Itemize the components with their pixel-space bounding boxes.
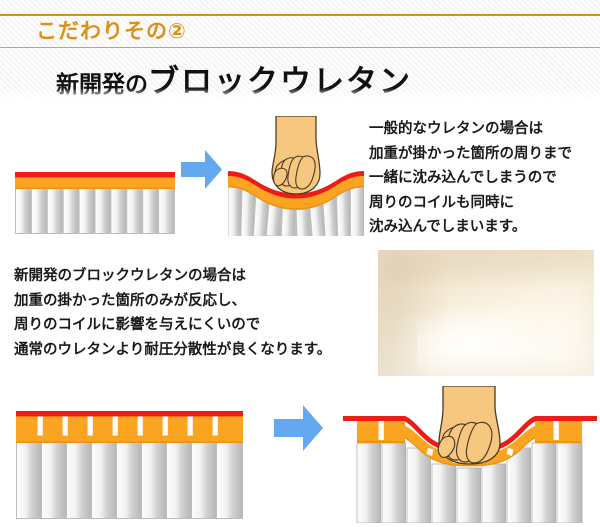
header-rule-bottom: [0, 47, 600, 48]
header-fade-overlay: [0, 88, 600, 102]
text-line: 加重が掛かった箇所の周りまで: [369, 142, 572, 167]
text-line: 新開発のブロックウレタンの場合は: [14, 264, 331, 289]
diagram-general-urethane-flat: [15, 172, 175, 234]
diagram-general-urethane-pressed: [228, 116, 364, 236]
text-line: 通常のウレタンより耐圧分散性が良くなります。: [14, 338, 331, 363]
foam-vignette: [378, 250, 594, 376]
red-cover-layer: [16, 411, 243, 416]
text-line: 沈み込んでしまいます。: [369, 215, 572, 240]
diagram-block-urethane-pressed: [343, 386, 597, 523]
header-rule-top: [0, 14, 600, 16]
arrow-right-bottom: [274, 405, 323, 451]
text-line: 一緒に沈み込んでしまうので: [369, 166, 572, 191]
text-line: 一般的なウレタンの場合は: [369, 117, 572, 142]
block-urethane-description: 新開発のブロックウレタンの場合は 加重の掛かった箇所のみが反応し、 周りのコイル…: [14, 264, 331, 362]
arrow-right-top: [181, 150, 222, 189]
general-urethane-description: 一般的なウレタンの場合は 加重が掛かった箇所の周りまで 一緒に沈み込んでしまうの…: [369, 117, 572, 240]
text-line: 周りのコイルに影響を与えにくいので: [14, 313, 331, 338]
urethane-layer-blocks: [16, 416, 243, 438]
text-line: 周りのコイルも同時に: [369, 191, 572, 216]
diagram-block-urethane-flat: [16, 411, 243, 519]
urethane-layer-solid: [15, 177, 175, 189]
hand-fist-icon: [438, 386, 500, 464]
coil-layer: [16, 442, 243, 519]
text-line: 加重の掛かった箇所のみが反応し、: [14, 289, 331, 314]
hand-fist-icon: [272, 116, 320, 194]
red-cover-layer: [15, 172, 175, 177]
foam-block-photo: [378, 250, 594, 376]
coil-layer: [15, 188, 175, 234]
page-header: こだわりその② 新開発のブロックウレタン: [0, 0, 600, 101]
section-badge-label: こだわりその②: [36, 17, 187, 46]
